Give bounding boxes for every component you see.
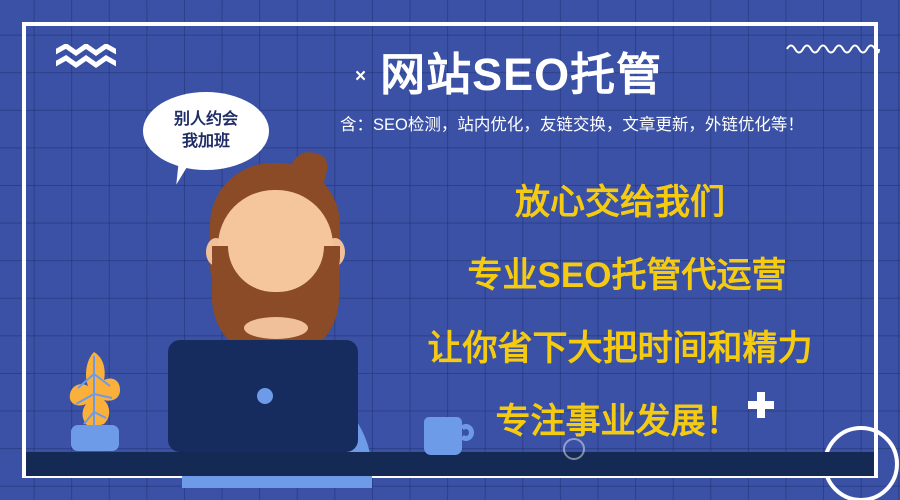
title-bullet-icon: × — [355, 67, 366, 86]
slogan-line: 让你省下大把时间和精力 — [385, 331, 855, 366]
slogan-line: 放心交给我们 — [385, 185, 855, 220]
coffee-mug-handle — [458, 424, 474, 441]
slogan-list: 放心交给我们 专业SEO托管代运营 让你省下大把时间和精力 专注事业发展！ — [385, 185, 855, 439]
plant-pot-shape — [71, 425, 119, 451]
speech-bubble-line-1: 别人约会 — [174, 109, 238, 131]
page-title: 网站SEO托管 — [380, 52, 662, 97]
poster-subtitle: 含：SEO检测，站内优化，友链交换，文章更新，外链优化等！ — [340, 116, 880, 136]
desk-surface — [26, 452, 874, 476]
double-zigzag-wave-icon — [56, 44, 116, 70]
slogan-line: 专业SEO托管代运营 — [399, 258, 855, 293]
poster-canvas: × 网站SEO托管 含：SEO检测，站内优化，友链交换，文章更新，外链优化等！ … — [0, 0, 900, 500]
laptop-logo-icon — [257, 388, 273, 404]
potted-plant-icon — [60, 348, 130, 452]
thin-squiggle-wave-icon — [786, 40, 880, 56]
coffee-mug-body — [424, 417, 462, 455]
poster-title-row: × 网站SEO托管 — [355, 45, 695, 103]
desk-ring-mark — [563, 438, 585, 460]
mouth-shape — [244, 317, 308, 339]
